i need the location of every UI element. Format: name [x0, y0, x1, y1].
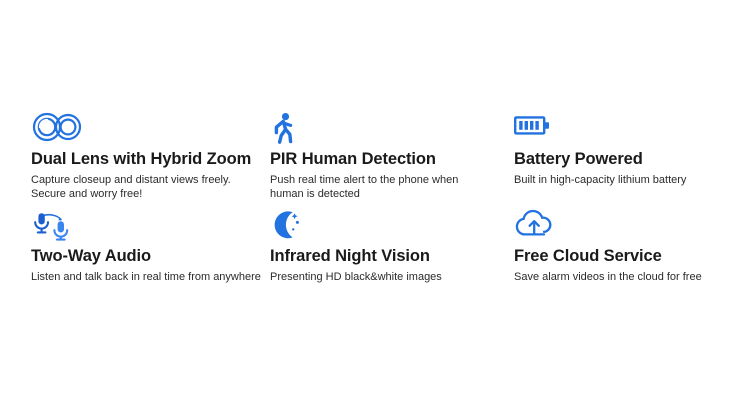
- feature-description-line: Listen and talk back in real time from a…: [31, 270, 268, 284]
- feature-description-line: human is detected: [270, 187, 510, 201]
- cloud-upload-icon: [514, 209, 750, 243]
- feature-card-battery-powered: Battery Powered Built in high-capacity l…: [510, 112, 750, 187]
- feature-description: Presenting HD black&white images: [270, 270, 510, 284]
- feature-title: PIR Human Detection: [270, 150, 510, 169]
- feature-card-pir-human-detection: PIR Human Detection Push real time alert…: [268, 112, 510, 202]
- feature-description-line: Presenting HD black&white images: [270, 270, 510, 284]
- crescent-moon-stars-icon: [270, 209, 510, 243]
- feature-description-line: Save alarm videos in the cloud for free: [514, 270, 750, 284]
- feature-description: Push real time alert to the phone when h…: [270, 173, 510, 202]
- feature-row: Dual Lens with Hybrid Zoom Capture close…: [0, 112, 750, 202]
- feature-grid: Dual Lens with Hybrid Zoom Capture close…: [0, 0, 750, 400]
- feature-card-free-cloud-service: Free Cloud Service Save alarm videos in …: [510, 209, 750, 284]
- feature-description-line: Secure and worry free!: [31, 187, 268, 201]
- feature-description-line: Capture closeup and distant views freely…: [31, 173, 268, 187]
- feature-title: Dual Lens with Hybrid Zoom: [31, 150, 268, 169]
- feature-description: Built in high-capacity lithium battery: [514, 173, 750, 187]
- feature-description-line: Built in high-capacity lithium battery: [514, 173, 750, 187]
- walking-person-icon: [270, 112, 510, 146]
- feature-card-two-way-audio: Two-Way Audio Listen and talk back in re…: [0, 209, 268, 284]
- feature-title: Free Cloud Service: [514, 247, 750, 266]
- two-microphones-icon: [31, 209, 268, 243]
- feature-row: Two-Way Audio Listen and talk back in re…: [0, 209, 750, 284]
- feature-title: Battery Powered: [514, 150, 750, 169]
- feature-description: Capture closeup and distant views freely…: [31, 173, 268, 202]
- feature-description: Listen and talk back in real time from a…: [31, 270, 268, 284]
- feature-card-dual-lens: Dual Lens with Hybrid Zoom Capture close…: [0, 112, 268, 202]
- feature-description-line: Push real time alert to the phone when: [270, 173, 510, 187]
- feature-card-infrared-night-vision: Infrared Night Vision Presenting HD blac…: [268, 209, 510, 284]
- battery-icon: [514, 112, 750, 146]
- dual-lens-icon: [31, 112, 268, 146]
- feature-title: Two-Way Audio: [31, 247, 268, 266]
- feature-description: Save alarm videos in the cloud for free: [514, 270, 750, 284]
- feature-title: Infrared Night Vision: [270, 247, 510, 266]
